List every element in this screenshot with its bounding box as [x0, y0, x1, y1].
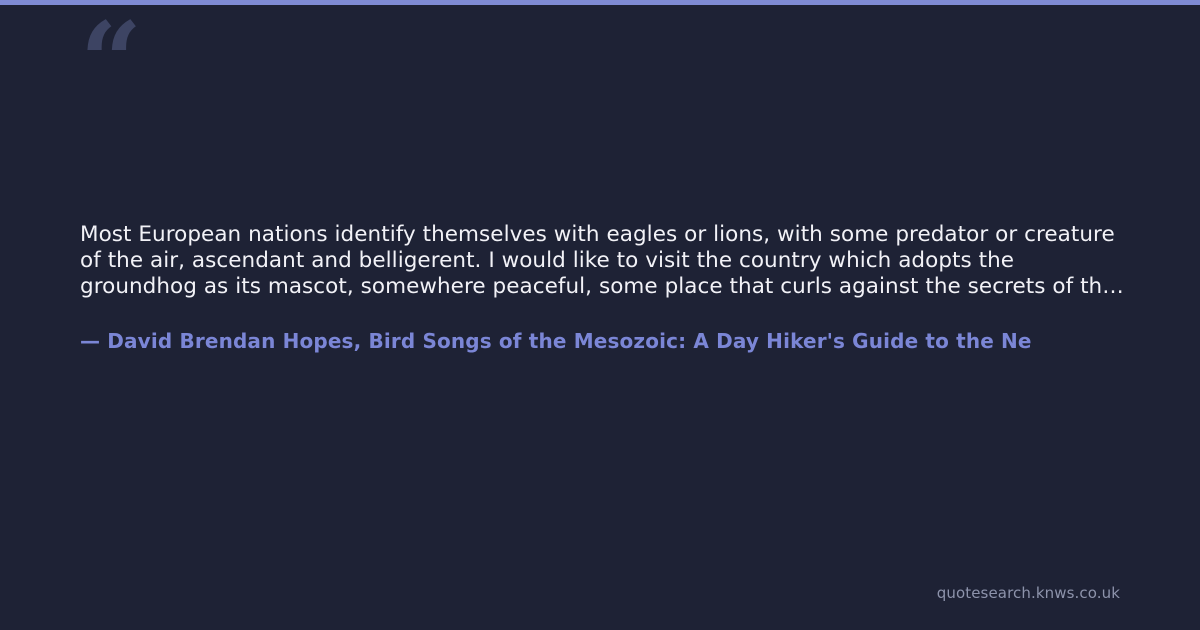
quote-content: Most European nations identify themselve… [80, 222, 1200, 354]
quote-attribution: — David Brendan Hopes, Bird Songs of the… [80, 328, 1200, 354]
attribution-dash: — [80, 329, 100, 353]
quote-card: “ Most European nations identify themsel… [0, 0, 1200, 630]
source-website-url: quotesearch.knws.co.uk [937, 584, 1120, 602]
quote-body-text: Most European nations identify themselve… [80, 222, 1125, 299]
opening-quote-icon: “ [80, 8, 140, 116]
attribution-author-and-source: David Brendan Hopes, Bird Songs of the M… [107, 329, 1031, 353]
top-accent-bar [0, 0, 1200, 5]
